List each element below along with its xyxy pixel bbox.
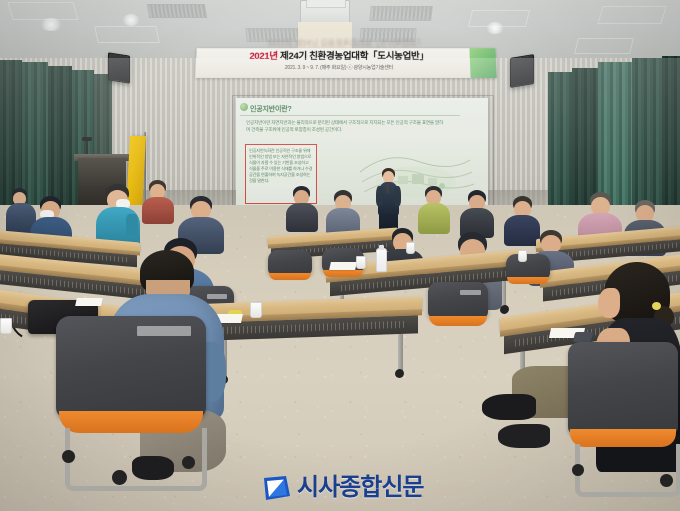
slide-bullet-icon: [240, 103, 248, 111]
chair-seat: [429, 316, 487, 326]
attendee-torso: [286, 203, 318, 232]
attendee: [418, 186, 450, 234]
chair-seat: [269, 273, 311, 280]
watermark-text: 시사종합신문: [297, 474, 423, 502]
slide-divider: [240, 115, 460, 116]
water-bottle: [376, 248, 387, 272]
lecture-hall-photo: 2021년 제24기 친환경농업대학「도시농업반」 2021년 제24기 친환경…: [0, 0, 680, 511]
ceiling-light: [40, 18, 62, 31]
slide-body-text: 인공지반이란 자연지반과는 물리적으로 분리된 상태에서 구조적으로 지지되는 …: [246, 120, 446, 133]
chair-foreground-right: [568, 342, 678, 492]
banner-title-rest: 제24기 친환경농업대학「도시농업반」: [278, 51, 429, 62]
chair-caster: [112, 470, 127, 485]
banner-subtitle: 2021. 3. 9 ~ 9. 7. (매주 화요일) ⓒ 광양시농업기술센터: [204, 64, 475, 72]
attendee-face: [598, 288, 620, 318]
ceiling-tile: [7, 2, 78, 20]
curtain-right-2: [572, 68, 598, 208]
banner-title-year: 2021년: [249, 51, 278, 62]
chair-frame: [575, 444, 680, 497]
chair-seat: [323, 270, 363, 277]
ceiling-speaker-right: [510, 54, 534, 88]
ceiling-tile: [597, 6, 667, 24]
curtain-left-2: [22, 62, 48, 208]
attendee-shoe: [498, 424, 550, 448]
attendee: [286, 186, 318, 232]
chair-back: [428, 282, 488, 318]
chair-label: [137, 326, 191, 336]
presenter-arm-right: [394, 186, 401, 206]
chair-back: [268, 250, 312, 275]
hair-tie: [652, 302, 661, 310]
slide-highlight-text: 인공지반녹화란 인공적인 구조물 위에 인위적인 방법 또는 자연적인 방법으로…: [249, 148, 313, 184]
chair-caster: [660, 474, 673, 487]
curtain-left-3: [48, 66, 72, 208]
microphone: [386, 184, 389, 193]
chair-caster: [182, 456, 195, 469]
ceiling-speaker-left: [108, 52, 130, 83]
ceiling-light: [486, 22, 504, 34]
chair: [268, 250, 312, 290]
paper-cup: [0, 318, 12, 334]
handout-paper: [75, 298, 103, 306]
curtain-right-5: [662, 56, 680, 210]
chair-back: [506, 254, 550, 279]
attendee-torso: [142, 197, 174, 224]
attendee-shoe: [482, 394, 536, 420]
paper-cup: [518, 250, 527, 262]
banner-title: 2021년 제24기 친환경농업대학「도시농업반」: [204, 51, 474, 63]
presenter: [374, 168, 404, 230]
smartphone: [573, 332, 593, 342]
curtain-right-4: [632, 58, 662, 210]
chair-foreground: [56, 316, 206, 486]
chair: [506, 254, 550, 294]
ceiling-tile: [574, 38, 634, 54]
chair-caster: [62, 450, 75, 463]
presentation-slide: 인공지반이란? 인공지반이란 자연지반과는 물리적으로 분리된 상태에서 구조적…: [236, 98, 488, 214]
curtain-right-3: [598, 62, 632, 210]
banner-ceiling-reflection: 2021년 제24기 친환경농업대학「도시농업반」: [196, 36, 496, 48]
ceiling-vent: [369, 6, 433, 21]
ceiling-vent: [147, 4, 207, 18]
paper-cup: [406, 242, 415, 254]
attendee: [142, 180, 174, 224]
chair-caster: [572, 464, 584, 476]
newspaper-logo-icon: [262, 474, 292, 502]
watermark: 시사종합신문: [262, 470, 432, 506]
chair-seat: [507, 277, 549, 284]
slide-title: 인공지반이란?: [250, 104, 292, 114]
attendee-arm: [126, 214, 138, 236]
paper-cup: [356, 256, 366, 269]
chair-back: [568, 342, 678, 435]
chair: [428, 282, 488, 340]
ceiling-light: [122, 14, 140, 26]
curtain-right-1: [548, 72, 572, 208]
presenter-arm-left: [376, 186, 383, 206]
attendee: [460, 190, 494, 238]
table-leg: [398, 334, 403, 372]
event-banner: 2021년 제24기 친환경농업대학「도시농업반」 2021. 3. 9 ~ 9…: [195, 48, 496, 78]
projection-screen: 인공지반이란? 인공지반이란 자연지반과는 물리적으로 분리된 상태에서 구조적…: [236, 98, 488, 214]
paper-cup: [250, 302, 262, 318]
chair-label: [460, 290, 480, 295]
ceiling-tile: [94, 26, 160, 43]
handout-paper: [329, 262, 357, 270]
